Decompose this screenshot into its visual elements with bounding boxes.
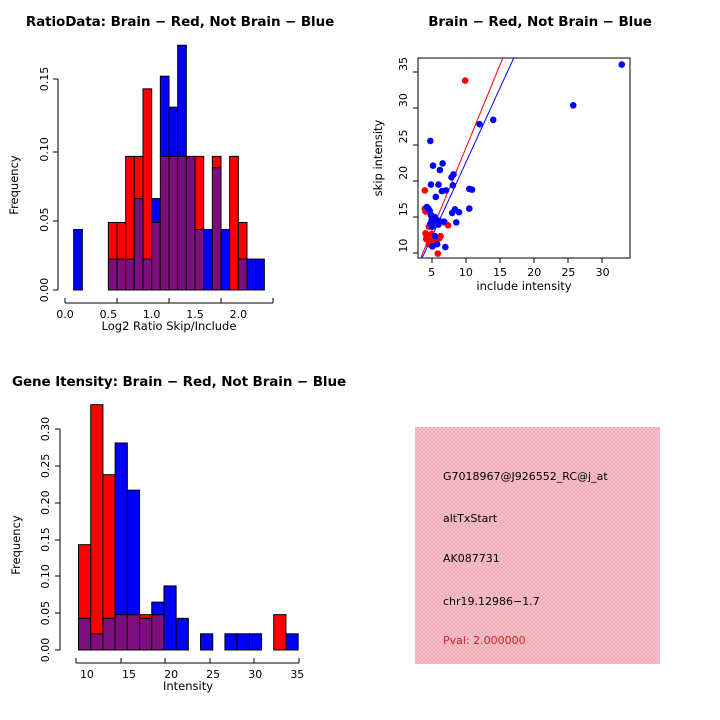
- histogram-bar: [103, 475, 115, 619]
- histogram-bar: [108, 222, 117, 259]
- scatter-title: Brain − Red, Not Brain − Blue: [360, 14, 720, 30]
- histogram-bar: [134, 199, 143, 290]
- scatter-point: [432, 233, 439, 240]
- scatter-points: [422, 61, 626, 257]
- histogram-bar: [127, 615, 139, 650]
- gene-intensity-bars: [79, 405, 299, 650]
- scatter-point: [449, 210, 456, 217]
- histogram-bar: [160, 156, 169, 290]
- scatter-point: [476, 121, 483, 128]
- histogram-bar: [169, 107, 178, 156]
- gene-y-axis: [55, 429, 60, 650]
- scatter-point: [570, 102, 577, 109]
- scatter-x-tick-labels: 51015202530: [428, 266, 609, 279]
- scatter-point: [429, 243, 436, 250]
- histogram-bar: [143, 259, 152, 290]
- scatter-point: [466, 186, 473, 193]
- y-tick-label: 0.00: [38, 278, 51, 303]
- scatter-point: [442, 244, 449, 251]
- scatter-point: [439, 188, 446, 195]
- y-tick-label: 25: [397, 130, 410, 144]
- histogram-bar: [126, 156, 135, 259]
- scatter-point: [435, 221, 442, 228]
- fit-line: [422, 58, 514, 258]
- histogram-bar: [212, 168, 221, 290]
- ratio-x-axis-label: Log2 Ratio Skip/Include: [102, 319, 237, 333]
- scatter-point: [466, 205, 473, 212]
- histogram-bar: [79, 545, 91, 619]
- y-tick-label: 30: [397, 93, 410, 107]
- scatter-point: [448, 174, 455, 181]
- gene-y-tick-labels: 0.000.050.100.150.200.250.30: [39, 417, 52, 663]
- histogram-bar: [79, 618, 91, 650]
- ratio-y-tick-labels: 0.000.050.100.15: [38, 67, 51, 303]
- y-tick-label: 0.00: [39, 638, 52, 663]
- histogram-bar: [108, 259, 117, 290]
- histogram-bar: [186, 156, 195, 290]
- histogram-bar: [127, 490, 139, 614]
- scatter-y-axis-label: skip intensity: [371, 119, 385, 196]
- ratio-histogram-title: RatioData: Brain − Red, Not Brain − Blue: [0, 14, 360, 30]
- scatter-point: [439, 160, 446, 167]
- scatter-x-axis-ticks: [432, 258, 602, 263]
- gene-y-axis-label: Frequency: [9, 515, 23, 575]
- histogram-bar: [160, 76, 169, 156]
- histogram-bar: [91, 405, 103, 634]
- probe-id-text: G7018967@J926552_RC@j_at: [443, 470, 608, 483]
- scatter-point: [429, 223, 436, 230]
- histogram-bar: [152, 222, 161, 290]
- ratio-y-axis-label: Frequency: [7, 155, 21, 215]
- histogram-bar: [212, 156, 221, 167]
- scatter-point: [428, 181, 435, 188]
- histogram-bar: [201, 634, 213, 650]
- histogram-bar: [152, 615, 164, 650]
- histogram-bar: [230, 156, 239, 290]
- gene-x-axis-label: Intensity: [163, 679, 213, 693]
- scatter-point: [427, 138, 434, 145]
- histogram-bar: [274, 615, 286, 650]
- histogram-bar: [249, 634, 261, 650]
- scatter-point: [450, 182, 457, 189]
- scatter-point: [456, 209, 463, 216]
- intensity-scatter-svg: 101520253035 51015202530 include intensi…: [360, 0, 720, 360]
- x-tick-label: 0.0: [56, 308, 74, 321]
- gene-intensity-svg: 0.000.050.100.150.200.250.30 10152025303…: [0, 360, 360, 720]
- x-tick-label: 15: [122, 668, 136, 681]
- x-tick-label: 35: [290, 668, 304, 681]
- histogram-bar: [256, 259, 265, 290]
- histogram-bar: [237, 634, 249, 650]
- x-tick-label: 10: [80, 668, 94, 681]
- x-tick-label: 10: [459, 266, 473, 279]
- histogram-bar: [178, 45, 187, 156]
- x-tick-label: 20: [527, 266, 541, 279]
- y-tick-label: 20: [397, 166, 410, 180]
- event-type-text: altTxStart: [443, 512, 497, 525]
- histogram-bar: [117, 259, 126, 290]
- y-tick-label: 0.20: [39, 490, 52, 515]
- scatter-point: [422, 187, 429, 194]
- histogram-bar: [204, 230, 213, 290]
- scatter-point: [435, 181, 442, 188]
- y-tick-label: 0.10: [38, 137, 51, 162]
- ratio-histogram-panel: RatioData: Brain − Red, Not Brain − Blue…: [0, 0, 360, 360]
- y-tick-label: 10: [397, 239, 410, 253]
- x-tick-label: 5: [428, 266, 435, 279]
- gene-x-axis: [76, 658, 299, 663]
- scatter-point: [435, 250, 442, 257]
- y-tick-label: 0.05: [39, 601, 52, 626]
- scatter-x-axis-label: include intensity: [476, 279, 571, 293]
- y-tick-label: 0.10: [39, 564, 52, 589]
- histogram-bar: [117, 222, 126, 259]
- histogram-bar: [195, 156, 204, 229]
- x-tick-label: 25: [561, 266, 575, 279]
- ratio-histogram-svg: 0.000.050.100.15 0.00.51.01.52.0 Log2 Ra…: [0, 0, 360, 360]
- histogram-bar: [115, 443, 127, 615]
- locus-text: chr19.12986−1.7: [443, 595, 540, 608]
- y-tick-label: 15: [397, 202, 410, 216]
- x-tick-label: 30: [596, 266, 610, 279]
- pval-text: Pval: 2.000000: [443, 634, 526, 647]
- scatter-point: [432, 194, 439, 201]
- histogram-bar: [115, 615, 127, 650]
- y-tick-label: 0.25: [39, 454, 52, 479]
- histogram-bar: [221, 230, 230, 290]
- histogram-bar: [238, 259, 247, 290]
- histogram-bar: [164, 586, 176, 650]
- histogram-bar: [195, 230, 204, 290]
- histogram-bar: [225, 634, 237, 650]
- histogram-bar: [286, 634, 298, 650]
- histogram-bar: [140, 618, 152, 650]
- ratio-x-axis: [65, 298, 273, 303]
- histogram-bar: [134, 156, 143, 198]
- ratio-histogram-bars: [74, 45, 265, 290]
- y-tick-label: 35: [397, 57, 410, 71]
- x-tick-label: 30: [248, 668, 262, 681]
- histogram-bar: [74, 230, 83, 290]
- y-tick-label: 0.30: [39, 417, 52, 442]
- histogram-bar: [176, 618, 188, 650]
- histogram-bar: [178, 156, 187, 290]
- scatter-y-tick-labels: 101520253035: [397, 57, 410, 253]
- y-tick-label: 0.05: [38, 207, 51, 232]
- histogram-bar: [238, 222, 247, 259]
- histogram-bar: [247, 259, 256, 290]
- x-tick-label: 15: [493, 266, 507, 279]
- histogram-bar: [143, 89, 152, 259]
- scatter-point: [618, 61, 625, 68]
- histogram-bar: [152, 602, 164, 615]
- scatter-point: [490, 117, 497, 124]
- scatter-point: [430, 162, 437, 169]
- scatter-point: [462, 77, 469, 84]
- scatter-point: [437, 167, 444, 174]
- histogram-bar: [126, 259, 135, 290]
- annotation-info-box: G7018967@J926552_RC@j_at altTxStart AK08…: [415, 427, 660, 664]
- gene-intensity-title: Gene Itensity: Brain − Red, Not Brain − …: [0, 374, 360, 390]
- accession-text: AK087731: [443, 552, 500, 565]
- scatter-point: [453, 219, 460, 226]
- histogram-bar: [91, 634, 103, 650]
- histogram-bar: [169, 156, 178, 290]
- scatter-y-axis-ticks: [413, 72, 418, 253]
- intensity-scatter-panel: Brain − Red, Not Brain − Blue 1015202530…: [360, 0, 720, 360]
- gene-intensity-panel: Gene Itensity: Brain − Red, Not Brain − …: [0, 360, 360, 720]
- histogram-bar: [103, 618, 115, 650]
- y-tick-label: 0.15: [38, 67, 51, 92]
- annotation-info-panel: G7018967@J926552_RC@j_at altTxStart AK08…: [360, 360, 720, 720]
- y-tick-label: 0.15: [39, 527, 52, 552]
- histogram-bar: [140, 615, 152, 619]
- histogram-bar: [152, 199, 161, 223]
- ratio-y-axis: [53, 79, 58, 290]
